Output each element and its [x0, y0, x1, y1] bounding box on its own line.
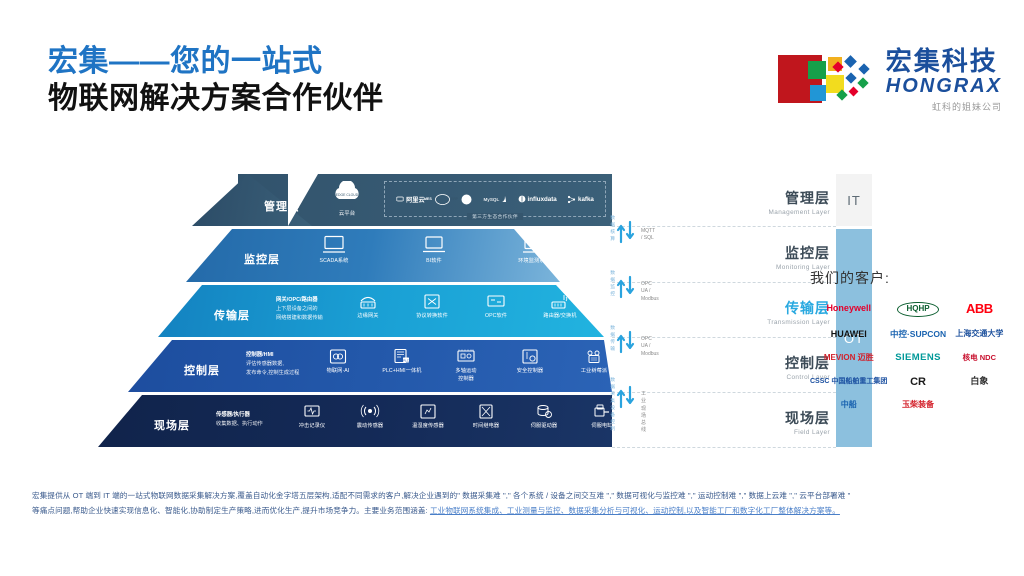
monitoring-item: SCADA系统 — [306, 235, 362, 266]
safety-controller-icon — [520, 348, 540, 365]
time-relay-icon — [476, 403, 496, 420]
customers-panel: 我们的客户: Honeywell HQHP ABB HUAWEI 中控·SUPC… — [810, 268, 1010, 410]
partners-box: 阿里云 MES ERP MySQL — [384, 181, 606, 217]
zone-it: IT — [836, 174, 872, 226]
tier-label-control: 控制层 — [184, 362, 220, 378]
transmission-item: 路由器/交换机 — [532, 293, 588, 321]
page-title-line2: 物联网解决方案合作伙伴 — [48, 81, 384, 118]
protocol-converter-icon — [422, 293, 442, 310]
cloud-platform-group: EDGE CLOUD 云平台 — [318, 181, 376, 217]
customer-logo: 上海交通大学 — [955, 330, 1003, 339]
logo-name-cn: 宏集科技 — [886, 48, 998, 75]
partner-logo: 阿里云 — [396, 195, 425, 204]
transmission-item: 边缘网关 — [340, 293, 396, 321]
customer-logo: 白象 — [970, 377, 988, 387]
layer-name-monitoring: 监控层 Monitoring Layer — [776, 243, 830, 271]
flow-arrow-transmission-control: 数据传输 OPC UA / Modbus — [616, 330, 638, 354]
monitoring-item: 环境监测系统 — [506, 235, 562, 266]
partner-logo: kafka — [567, 195, 594, 204]
partner-logo: MES — [435, 194, 450, 205]
customer-logo-grid: Honeywell HQHP ABB HUAWEI 中控·SUPCON 上海交通… — [810, 302, 1010, 410]
field-item: 冲击记录仪 — [284, 403, 340, 431]
customer-logo: CSSC 中国船舶重工集团 — [810, 378, 887, 386]
customer-logo: MEVION 迈胜 — [824, 354, 874, 363]
customer-logo: 中控·SUPCON — [890, 330, 946, 339]
iot-ai-icon — [328, 348, 348, 365]
customer-logo: Honeywell — [826, 304, 871, 314]
automation-pyramid-diagram: 云平台/MES/ERP 多工厂统筹管理、预测分析、 辅助决策 管理层 EDGE … — [72, 174, 772, 470]
logo-name-en: HONGRAX — [886, 75, 1002, 98]
transmission-icon-group: 边缘网关 协议转换软件 OPC软件 — [340, 293, 612, 321]
arrow-up-down-icon — [616, 275, 638, 299]
layer-name-field: 现场层 Field Layer — [785, 408, 830, 436]
customer-logo: 玉柴装备 — [902, 401, 934, 410]
control-item: 工业树莓派 — [566, 348, 612, 383]
tier-desc-field: 传感器/执行器 收集数据、执行动作 — [216, 411, 263, 429]
control-icon-group: 物联网·AI PLC PLC+HMI一体机 — [310, 348, 612, 383]
customers-title: 我们的客户: — [810, 268, 1010, 288]
arrow-up-down-icon — [616, 220, 638, 244]
arrow-up-down-icon — [616, 385, 638, 409]
tier-desc-control: 控制器/HMI 评估传感器数据, 发布命令,控制生成过程 — [246, 351, 299, 378]
flow-arrow-monitoring-transmission: 数据监控 OPC UA / Modbus — [616, 275, 638, 299]
field-icon-group: 冲击记录仪 震动传感器 — [284, 403, 612, 431]
control-item: 安全控制器 — [502, 348, 558, 383]
multi-axis-icon — [456, 348, 476, 365]
svg-text:PLC: PLC — [403, 358, 410, 362]
logo-text: 宏集科技 HONGRAX 虹科的姐妹公司 — [886, 48, 1002, 113]
tier-band-control: 控制层 控制器/HMI 评估传感器数据, 发布命令,控制生成过程 物联网·AI — [72, 340, 612, 392]
tier-band-management: 管理层 EDGE CLOUD 云平台 阿里云 — [72, 174, 612, 226]
customer-logo: 中船 — [841, 401, 857, 410]
monitoring-item: BI软件 — [406, 235, 462, 266]
power-supply-icon — [584, 348, 604, 365]
cloud-icon: EDGE CLOUD — [330, 181, 364, 201]
partners-list: 阿里云 MES ERP MySQL — [385, 182, 605, 216]
customer-logo: SIEMENS — [895, 353, 941, 363]
layer-name-management: 管理层 Management Layer — [769, 188, 830, 216]
monitor-icon — [322, 235, 346, 255]
partners-caption: 第三方生态合作伙伴 — [467, 213, 523, 220]
router-switch-icon — [550, 293, 570, 310]
field-item: 震动传感器 — [342, 403, 398, 431]
monitor-icon — [522, 235, 546, 255]
laptop-icon — [422, 235, 446, 255]
transmission-item: 协议转换软件 — [404, 293, 460, 321]
field-item: 时间继电器 — [458, 403, 514, 431]
monitoring-icon-group: SCADA系统 BI软件 环境监测系统 — [306, 235, 562, 266]
opc-software-icon — [486, 293, 506, 310]
tier-label-transmission: 传输层 — [214, 307, 250, 323]
customer-logo: HUAWEI — [831, 330, 867, 340]
data-flow-column: 数据核算 MQTT / SQL 数据监控 OPC UA / Modbus 数据传… — [612, 174, 730, 470]
arrow-up-down-icon — [616, 330, 638, 354]
svg-text:EDGE CLOUD: EDGE CLOUD — [336, 193, 359, 197]
logo-mark-icon — [778, 51, 874, 111]
customer-logo: 核电 NDC — [963, 354, 996, 362]
customer-logo: ABB — [966, 302, 993, 316]
field-item: 温湿度传感器 — [400, 403, 456, 431]
flow-arrow-control-field: 数据采集 设备控制 工业现场 总线 — [616, 385, 638, 409]
footer-service-link[interactable]: 工业物联网系统集成、工业测量与监控、数据采集分析与可视化、运动控制,以及智能工厂… — [430, 506, 840, 515]
tier-band-transmission: 传输层 网关/OPC/路由器 上下层设备之间的 网络搭建和数据传输 边缘网关 — [72, 285, 612, 337]
footer-paragraph-1: 宏集提供从 OT 端到 IT 端的一站式物联网数据采集解决方案,覆盖自动化金字塔… — [32, 488, 994, 503]
partner-logo: influxdata — [518, 195, 557, 203]
vibration-sensor-icon — [360, 403, 380, 420]
logo-tagline: 虹科的姐妹公司 — [932, 100, 1002, 113]
plc-hmi-icon: PLC — [392, 348, 412, 365]
tier-label-management: 管理层 — [264, 198, 300, 214]
partner-logo: MySQL — [483, 195, 507, 203]
tier-band-monitoring: 监控层 SCADA系统 BI软件 — [72, 229, 612, 282]
tier-label-monitoring: 监控层 — [244, 251, 280, 267]
page-title-line1: 宏集——您的一站式 — [48, 44, 384, 81]
flow-arrow-management-monitoring: 数据核算 MQTT / SQL — [616, 220, 638, 244]
servo-driver-icon — [534, 403, 554, 420]
field-item: 伺服驱动器 — [516, 403, 572, 431]
gateway-icon — [358, 293, 378, 310]
customer-logo: HQHP — [897, 302, 938, 317]
brand-logo: 宏集科技 HONGRAX 虹科的姐妹公司 — [778, 48, 1002, 113]
temp-humidity-icon — [418, 403, 438, 420]
tier-desc-transmission: 网关/OPC/路由器 上下层设备之间的 网络搭建和数据传输 — [276, 296, 323, 323]
control-item: 多轴运动 控制器 — [438, 348, 494, 383]
customer-logo: CR — [910, 376, 926, 388]
control-item: 物联网·AI — [310, 348, 366, 383]
footer-paragraph-2: 等痛点问题,帮助企业快速实现信息化、智能化,协助制定生产策略,进而优化生产,提升… — [32, 506, 428, 515]
partner-logo: ERP — [460, 194, 473, 205]
field-item: 伺服电缸 — [574, 403, 612, 431]
page-title: 宏集——您的一站式 物联网解决方案合作伙伴 — [48, 44, 384, 117]
cloud-platform-label: 云平台 — [318, 209, 376, 217]
shock-recorder-icon — [302, 403, 322, 420]
servo-cylinder-icon — [592, 403, 612, 420]
tier-label-field: 现场层 — [154, 417, 190, 433]
slide-root: 宏集——您的一站式 物联网解决方案合作伙伴 — [0, 0, 1024, 576]
footer-description: 宏集提供从 OT 端到 IT 端的一站式物联网数据采集解决方案,覆盖自动化金字塔… — [32, 488, 994, 518]
transmission-item: OPC软件 — [468, 293, 524, 321]
tier-band-field: 现场层 传感器/执行器 收集数据、执行动作 冲击记录仪 — [72, 395, 612, 447]
control-item: PLC PLC+HMI一体机 — [374, 348, 430, 383]
